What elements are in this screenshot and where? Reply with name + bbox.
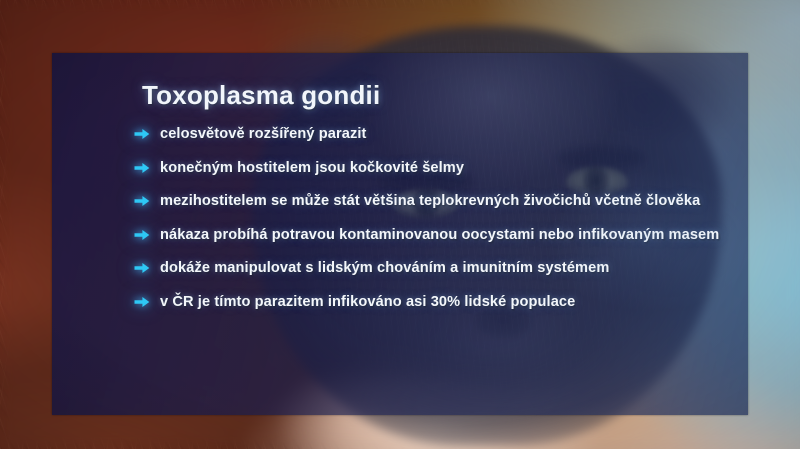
bullet-item: dokáže manipulovat s lidským chováním a …	[134, 259, 730, 279]
arrow-right-icon	[134, 261, 150, 275]
slide-panel-content: Toxoplasma gondii celosvětově rozšířený …	[52, 53, 748, 415]
arrow-right-icon	[134, 295, 150, 309]
bullet-text: mezihostitelem se může stát většina tepl…	[160, 192, 730, 212]
bullet-list: celosvětově rozšířený parazit konečným h…	[134, 125, 730, 312]
bullet-text: dokáže manipulovat s lidským chováním a …	[160, 259, 730, 279]
arrow-right-icon	[134, 194, 150, 208]
bullet-item: konečným hostitelem jsou kočkovité šelmy	[134, 159, 730, 179]
slide-screen: Toxoplasma gondii celosvětově rozšířený …	[0, 0, 800, 449]
bullet-item: nákaza probíhá potravou kontaminovanou o…	[134, 226, 730, 246]
bullet-text: konečným hostitelem jsou kočkovité šelmy	[160, 159, 730, 179]
arrow-right-icon	[134, 127, 150, 141]
slide-panel: Toxoplasma gondii celosvětově rozšířený …	[52, 53, 748, 415]
bullet-item: v ČR je tímto parazitem infikováno asi 3…	[134, 293, 730, 313]
slide-title: Toxoplasma gondii	[142, 80, 380, 111]
bullet-item: celosvětově rozšířený parazit	[134, 125, 730, 145]
bullet-item: mezihostitelem se může stát většina tepl…	[134, 192, 730, 212]
arrow-right-icon	[134, 161, 150, 175]
bullet-text: nákaza probíhá potravou kontaminovanou o…	[160, 226, 730, 246]
arrow-right-icon	[134, 228, 150, 242]
bullet-text: celosvětově rozšířený parazit	[160, 125, 730, 145]
bullet-text: v ČR je tímto parazitem infikováno asi 3…	[160, 293, 730, 313]
